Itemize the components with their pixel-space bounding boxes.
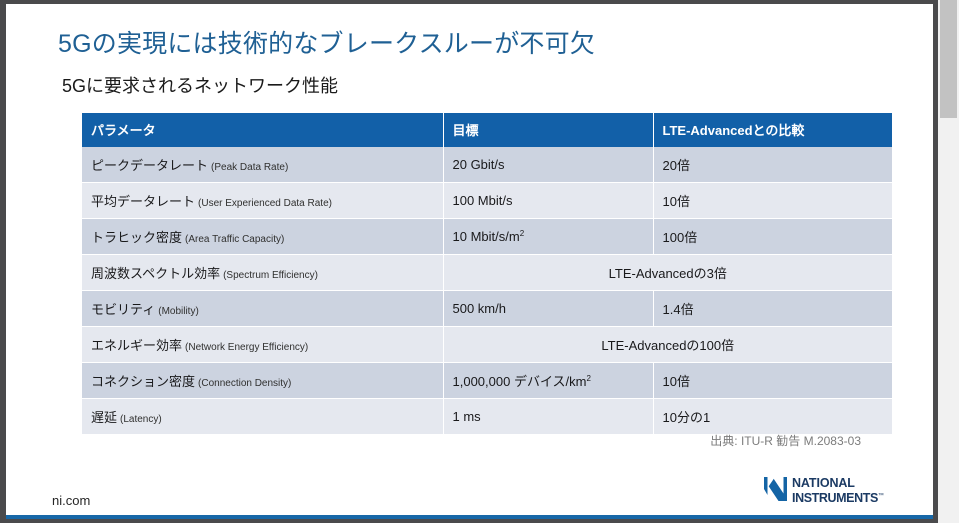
target-value: 1 ms bbox=[453, 409, 481, 424]
cell-parameter: 遅延(Latency) bbox=[82, 399, 443, 435]
cell-merged-value: LTE-Advancedの100倍 bbox=[443, 327, 892, 363]
table-row: コネクション密度(Connection Density)1,000,000 デバ… bbox=[82, 363, 892, 399]
target-value: 500 km/h bbox=[453, 301, 506, 316]
table-row: 平均データレート(User Experienced Data Rate)100 … bbox=[82, 183, 892, 219]
merged-value-text: LTE-Advancedの3倍 bbox=[609, 266, 727, 281]
target-value: 20 Gbit/s bbox=[453, 157, 505, 172]
ni-eagle-mark-icon bbox=[763, 476, 788, 507]
cell-target: 500 km/h bbox=[443, 291, 653, 327]
comparison-value: 20倍 bbox=[663, 158, 690, 173]
parameter-name-jp: 遅延 bbox=[91, 410, 117, 425]
parameter-name-en: (Latency) bbox=[120, 414, 162, 425]
cell-parameter: トラヒック密度(Area Traffic Capacity) bbox=[82, 219, 443, 255]
table-row: ピークデータレート(Peak Data Rate)20 Gbit/s20倍 bbox=[82, 147, 892, 183]
parameter-name-en: (Network Energy Efficiency) bbox=[185, 342, 308, 353]
target-value: 1,000,000 デバイス/km bbox=[453, 374, 587, 389]
vertical-scrollbar[interactable] bbox=[938, 0, 959, 523]
parameter-name-en: (Area Traffic Capacity) bbox=[185, 234, 284, 245]
ni-logo-trademark: ™ bbox=[878, 493, 884, 499]
source-citation: 出典: ITU-R 勧告 M.2083-03 bbox=[710, 432, 861, 449]
network-performance-table: パラメータ 目標 LTE-Advancedとの比較 ピークデータレート(Peak… bbox=[82, 113, 892, 435]
table-header-row: パラメータ 目標 LTE-Advancedとの比較 bbox=[82, 113, 892, 147]
ni-logo-line-1: NATIONAL bbox=[792, 476, 855, 490]
comparison-value: 10分の1 bbox=[663, 410, 711, 425]
table-header: パラメータ 目標 LTE-Advancedとの比較 bbox=[82, 113, 892, 147]
cell-comparison: 10分の1 bbox=[653, 399, 892, 435]
column-header-comparison: LTE-Advancedとの比較 bbox=[653, 113, 892, 147]
target-value: 100 Mbit/s bbox=[453, 193, 513, 208]
cell-merged-value: LTE-Advancedの3倍 bbox=[443, 255, 892, 291]
cell-target: 10 Mbit/s/m2 bbox=[443, 219, 653, 255]
cell-comparison: 20倍 bbox=[653, 147, 892, 183]
parameter-name-jp: ピークデータレート bbox=[91, 158, 208, 173]
cell-parameter: ピークデータレート(Peak Data Rate) bbox=[82, 147, 443, 183]
comparison-value: 100倍 bbox=[663, 230, 698, 245]
slide-subtitle: 5Gに要求されるネットワーク性能 bbox=[62, 72, 338, 98]
table-row: 周波数スペクトル効率(Spectrum Efficiency)LTE-Advan… bbox=[82, 255, 892, 291]
parameter-name-jp: コネクション密度 bbox=[91, 374, 195, 389]
cell-target: 1,000,000 デバイス/km2 bbox=[443, 363, 653, 399]
parameter-name-jp: 平均データレート bbox=[91, 194, 195, 209]
merged-value-text: LTE-Advancedの100倍 bbox=[601, 338, 734, 353]
target-value-exponent: 2 bbox=[520, 229, 524, 238]
national-instruments-logo: NATIONAL INSTRUMENTS™ bbox=[763, 476, 884, 506]
table-row: 遅延(Latency)1 ms10分の1 bbox=[82, 399, 892, 435]
cell-parameter: モビリティ(Mobility) bbox=[82, 291, 443, 327]
cell-comparison: 100倍 bbox=[653, 219, 892, 255]
bottom-accent-rule bbox=[6, 515, 933, 519]
scrollbar-thumb[interactable] bbox=[940, 0, 957, 118]
parameter-name-jp: トラヒック密度 bbox=[91, 230, 182, 245]
table-row: トラヒック密度(Area Traffic Capacity)10 Mbit/s/… bbox=[82, 219, 892, 255]
parameter-name-en: (Mobility) bbox=[158, 306, 199, 317]
comparison-value: 10倍 bbox=[663, 194, 690, 209]
parameter-name-en: (Connection Density) bbox=[198, 378, 291, 389]
footer-website-url: ni.com bbox=[52, 493, 90, 508]
column-header-parameter: パラメータ bbox=[82, 113, 443, 147]
target-value-exponent: 2 bbox=[587, 374, 591, 383]
target-value: 10 Mbit/s/m bbox=[453, 229, 520, 244]
table-body: ピークデータレート(Peak Data Rate)20 Gbit/s20倍平均デ… bbox=[82, 147, 892, 435]
comparison-value: 1.4倍 bbox=[663, 302, 694, 317]
slide-title: 5Gの実現には技術的なブレークスルーが不可欠 bbox=[58, 24, 595, 60]
parameter-name-en: (Spectrum Efficiency) bbox=[223, 270, 318, 281]
cell-target: 20 Gbit/s bbox=[443, 147, 653, 183]
cell-target: 100 Mbit/s bbox=[443, 183, 653, 219]
parameter-name-jp: モビリティ bbox=[91, 302, 155, 317]
cell-parameter: エネルギー効率(Network Energy Efficiency) bbox=[82, 327, 443, 363]
slide-frame: 5Gの実現には技術的なブレークスルーが不可欠 5Gに要求されるネットワーク性能 … bbox=[0, 0, 938, 523]
ni-logo-wordmark: NATIONAL INSTRUMENTS™ bbox=[792, 477, 884, 504]
parameter-name-en: (User Experienced Data Rate) bbox=[198, 198, 332, 209]
cell-comparison: 10倍 bbox=[653, 363, 892, 399]
parameter-name-jp: エネルギー効率 bbox=[91, 338, 182, 353]
slide-canvas: 5Gの実現には技術的なブレークスルーが不可欠 5Gに要求されるネットワーク性能 … bbox=[6, 4, 933, 519]
cell-parameter: コネクション密度(Connection Density) bbox=[82, 363, 443, 399]
presentation-viewer: 5Gの実現には技術的なブレークスルーが不可欠 5Gに要求されるネットワーク性能 … bbox=[0, 0, 959, 523]
parameter-name-jp: 周波数スペクトル効率 bbox=[91, 266, 220, 281]
table-row: エネルギー効率(Network Energy Efficiency)LTE-Ad… bbox=[82, 327, 892, 363]
cell-target: 1 ms bbox=[443, 399, 653, 435]
table-row: モビリティ(Mobility)500 km/h1.4倍 bbox=[82, 291, 892, 327]
cell-parameter: 周波数スペクトル効率(Spectrum Efficiency) bbox=[82, 255, 443, 291]
cell-comparison: 1.4倍 bbox=[653, 291, 892, 327]
cell-parameter: 平均データレート(User Experienced Data Rate) bbox=[82, 183, 443, 219]
cell-comparison: 10倍 bbox=[653, 183, 892, 219]
column-header-target: 目標 bbox=[443, 113, 653, 147]
comparison-value: 10倍 bbox=[663, 374, 690, 389]
parameter-name-en: (Peak Data Rate) bbox=[211, 162, 288, 173]
ni-logo-line-2: INSTRUMENTS™ bbox=[792, 490, 884, 505]
